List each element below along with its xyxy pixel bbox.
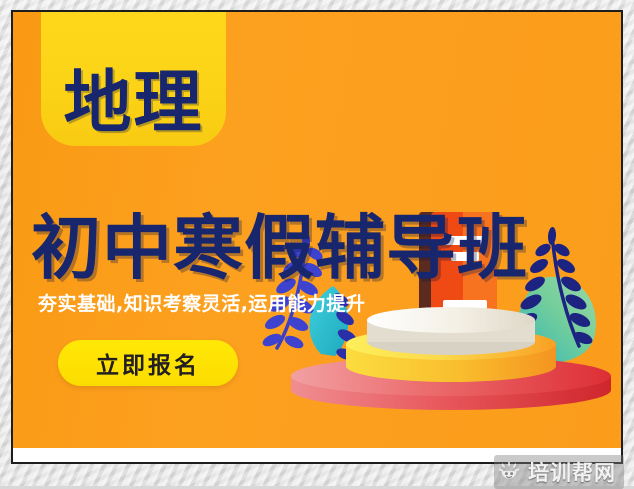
enroll-now-button[interactable]: 立即报名: [58, 340, 238, 386]
watermark-label: 培训帮网: [528, 457, 616, 487]
page-title: 初中寒假辅导班: [31, 213, 611, 283]
poster-subtitle: 夯实基础,知识考察灵活,运用能力提升: [38, 289, 365, 316]
watermark: 培训帮网: [494, 455, 624, 489]
poster-orange-canvas: 地理 初中寒假辅导班 夯实基础,知识考察灵活,运用能力提升 立即报名: [13, 12, 621, 448]
subject-tag-label: 地理: [63, 70, 203, 138]
enroll-now-label: 立即报名: [96, 346, 200, 380]
sun-face-icon: [498, 461, 520, 483]
promo-poster-card: 地理 初中寒假辅导班 夯实基础,知识考察灵活,运用能力提升 立即报名: [11, 10, 623, 464]
subject-tag: 地理: [41, 12, 226, 146]
